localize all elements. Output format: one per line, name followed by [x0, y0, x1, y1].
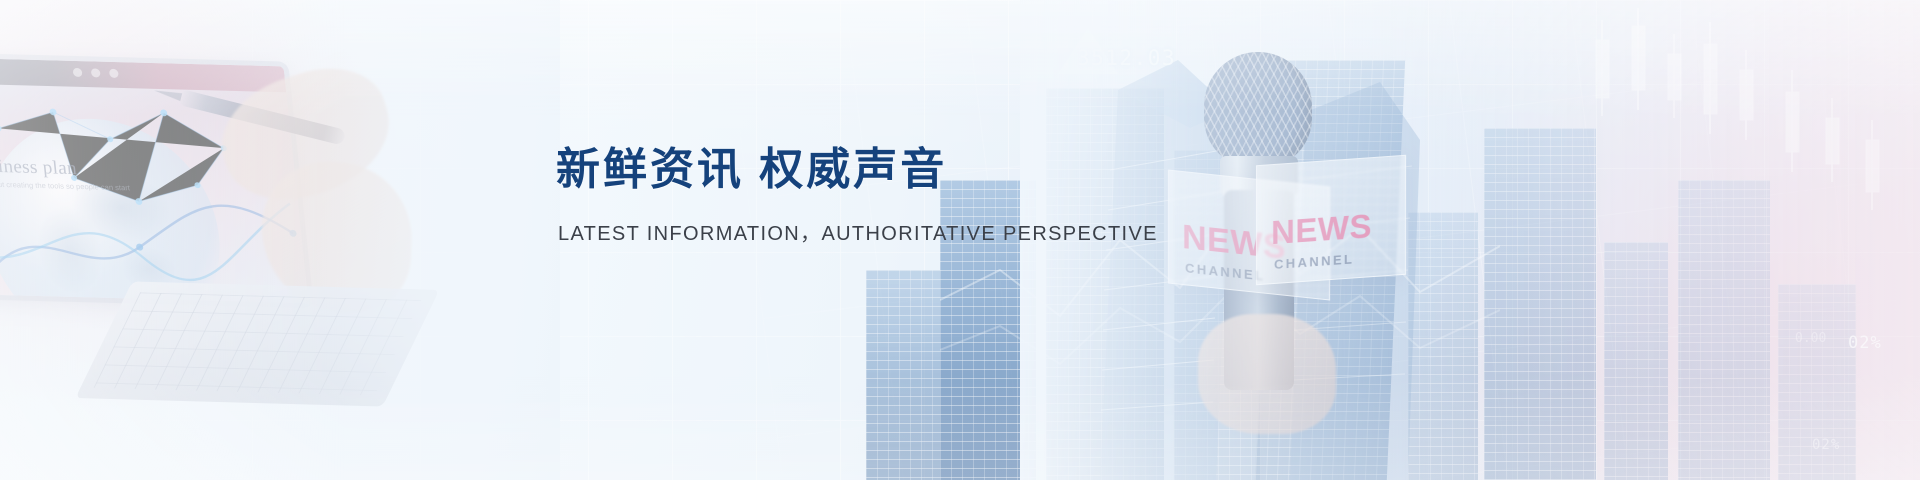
laptop-keyboard	[75, 281, 439, 406]
page-title: 新鲜资讯 权威声音	[556, 142, 1158, 197]
news-flag-left-subtitle: CHANNEL	[1185, 261, 1265, 282]
market-percent-secondary: 02%	[1812, 437, 1840, 453]
page-subtitle: LATEST INFORMATION，AUTHORITATIVE PERSPEC…	[558, 217, 1158, 246]
market-percent-faint: 0.00	[1795, 331, 1826, 346]
news-flag-right-subtitle: CHANNEL	[1274, 252, 1354, 271]
candlestick-chart-icon	[1500, 0, 1920, 300]
microphone-head	[1204, 52, 1312, 168]
market-percent-primary: 02%	[1848, 333, 1882, 353]
news-hero-banner: NEWS CHANNEL NEWS CHANNEL	[0, 0, 1920, 480]
market-ticker-value: 3512.03	[1077, 46, 1176, 70]
hand-holding-microphone	[1198, 314, 1336, 434]
news-flag-right: NEWS CHANNEL	[1256, 155, 1406, 285]
laptop-image: business plan it's about creating the to…	[0, 7, 420, 454]
news-flag-right-title: NEWS	[1271, 209, 1372, 249]
banner-copy: 新鲜资讯 权威声音 LATEST INFORMATION，AUTHORITATI…	[556, 142, 1158, 246]
